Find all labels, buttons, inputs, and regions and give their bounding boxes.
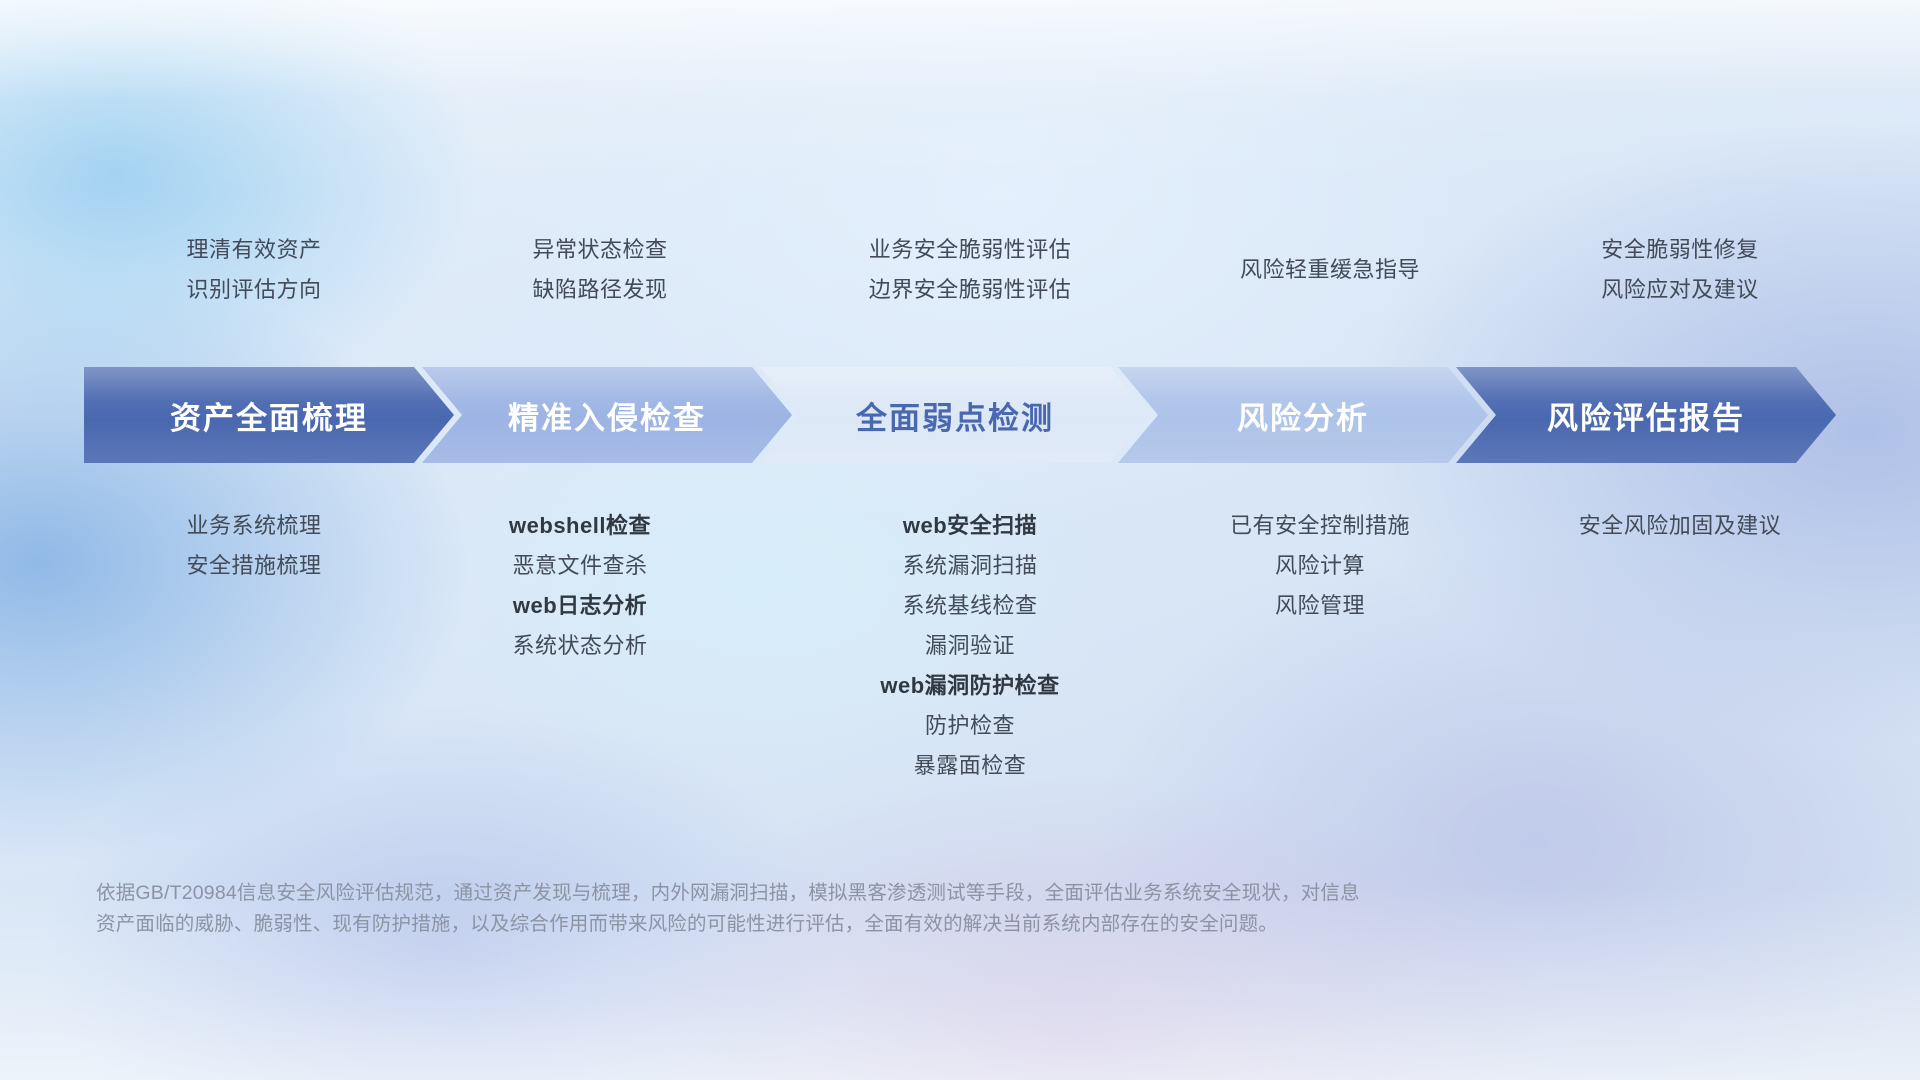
stage-arrow-weakness-detection[interactable]: 全面弱点检测 [760,367,1150,463]
list-item: 防护检查 [770,706,1170,746]
top-caption-line: 缺陷路径发现 [430,270,770,310]
footer-line-2: 资产面临的威胁、脆弱性、现有防护措施，以及综合作用而带来风险的可能性进行评估，全… [96,909,1616,940]
list-item: web漏洞防护检查 [770,666,1170,706]
list-item: 恶意文件查杀 [410,546,750,586]
list-item: 业务系统梳理 [84,506,424,546]
top-caption-line: 识别评估方向 [84,270,424,310]
stage-top-captions-asset-inventory: 理清有效资产 识别评估方向 [84,230,424,310]
footer-line-1: 依据GB/T20984信息安全风险评估规范，通过资产发现与梳理，内外网漏洞扫描，… [96,878,1616,909]
list-item: 安全措施梳理 [84,546,424,586]
list-item: 风险计算 [1130,546,1510,586]
stage-arrow-asset-inventory[interactable]: 资产全面梳理 [84,367,454,463]
list-item: web安全扫描 [770,506,1170,546]
top-caption-line: 风险轻重缓急指导 [1140,250,1520,290]
stage-arrow-label: 资产全面梳理 [170,393,368,438]
footer-description: 依据GB/T20984信息安全风险评估规范，通过资产发现与梳理，内外网漏洞扫描，… [96,878,1616,940]
list-item: 暴露面检查 [770,746,1170,786]
top-caption-line: 业务安全脆弱性评估 [770,230,1170,270]
stage-top-captions-risk-report: 安全脆弱性修复 风险应对及建议 [1490,230,1870,310]
stage-bottom-list-risk-analysis: 已有安全控制措施 风险计算 风险管理 [1130,506,1510,626]
stage-arrow-risk-report[interactable]: 风险评估报告 [1456,367,1836,463]
stage-top-captions-intrusion-check: 异常状态检查 缺陷路径发现 [430,230,770,310]
slide-canvas: 理清有效资产 识别评估方向 异常状态检查 缺陷路径发现 业务安全脆弱性评估 边界… [0,0,1920,1080]
stage-bottom-list-intrusion-check: webshell检查 恶意文件查杀 web日志分析 系统状态分析 [410,506,750,666]
top-caption-line: 安全脆弱性修复 [1490,230,1870,270]
list-item: 风险管理 [1130,586,1510,626]
list-item: 系统漏洞扫描 [770,546,1170,586]
stage-arrow-risk-analysis[interactable]: 风险分析 [1118,367,1488,463]
stage-arrow-label: 风险分析 [1237,393,1369,438]
list-item: web日志分析 [410,586,750,626]
list-item: webshell检查 [410,506,750,546]
stage-bottom-list-weakness-detection: web安全扫描 系统漏洞扫描 系统基线检查 漏洞验证 web漏洞防护检查 防护检… [770,506,1170,786]
stage-arrow-label: 精准入侵检查 [508,393,706,438]
top-caption-line: 理清有效资产 [84,230,424,270]
top-caption-line: 边界安全脆弱性评估 [770,270,1170,310]
stage-top-captions-risk-analysis: 风险轻重缓急指导 [1140,250,1520,290]
list-item: 漏洞验证 [770,626,1170,666]
process-arrow-band: 资产全面梳理 精准入侵检查 全面弱点检测 风险分析 风险评估报告 [84,367,1836,463]
stage-arrow-label: 风险评估报告 [1547,393,1745,438]
top-caption-line: 风险应对及建议 [1490,270,1870,310]
top-caption-line: 异常状态检查 [430,230,770,270]
stage-arrow-label: 全面弱点检测 [856,393,1054,438]
stage-bottom-list-risk-report: 安全风险加固及建议 [1480,506,1880,546]
list-item: 系统基线检查 [770,586,1170,626]
stage-bottom-list-asset-inventory: 业务系统梳理 安全措施梳理 [84,506,424,586]
stage-top-captions-weakness-detection: 业务安全脆弱性评估 边界安全脆弱性评估 [770,230,1170,310]
list-item: 安全风险加固及建议 [1480,506,1880,546]
stage-arrow-intrusion-check[interactable]: 精准入侵检查 [422,367,792,463]
list-item: 已有安全控制措施 [1130,506,1510,546]
list-item: 系统状态分析 [410,626,750,666]
